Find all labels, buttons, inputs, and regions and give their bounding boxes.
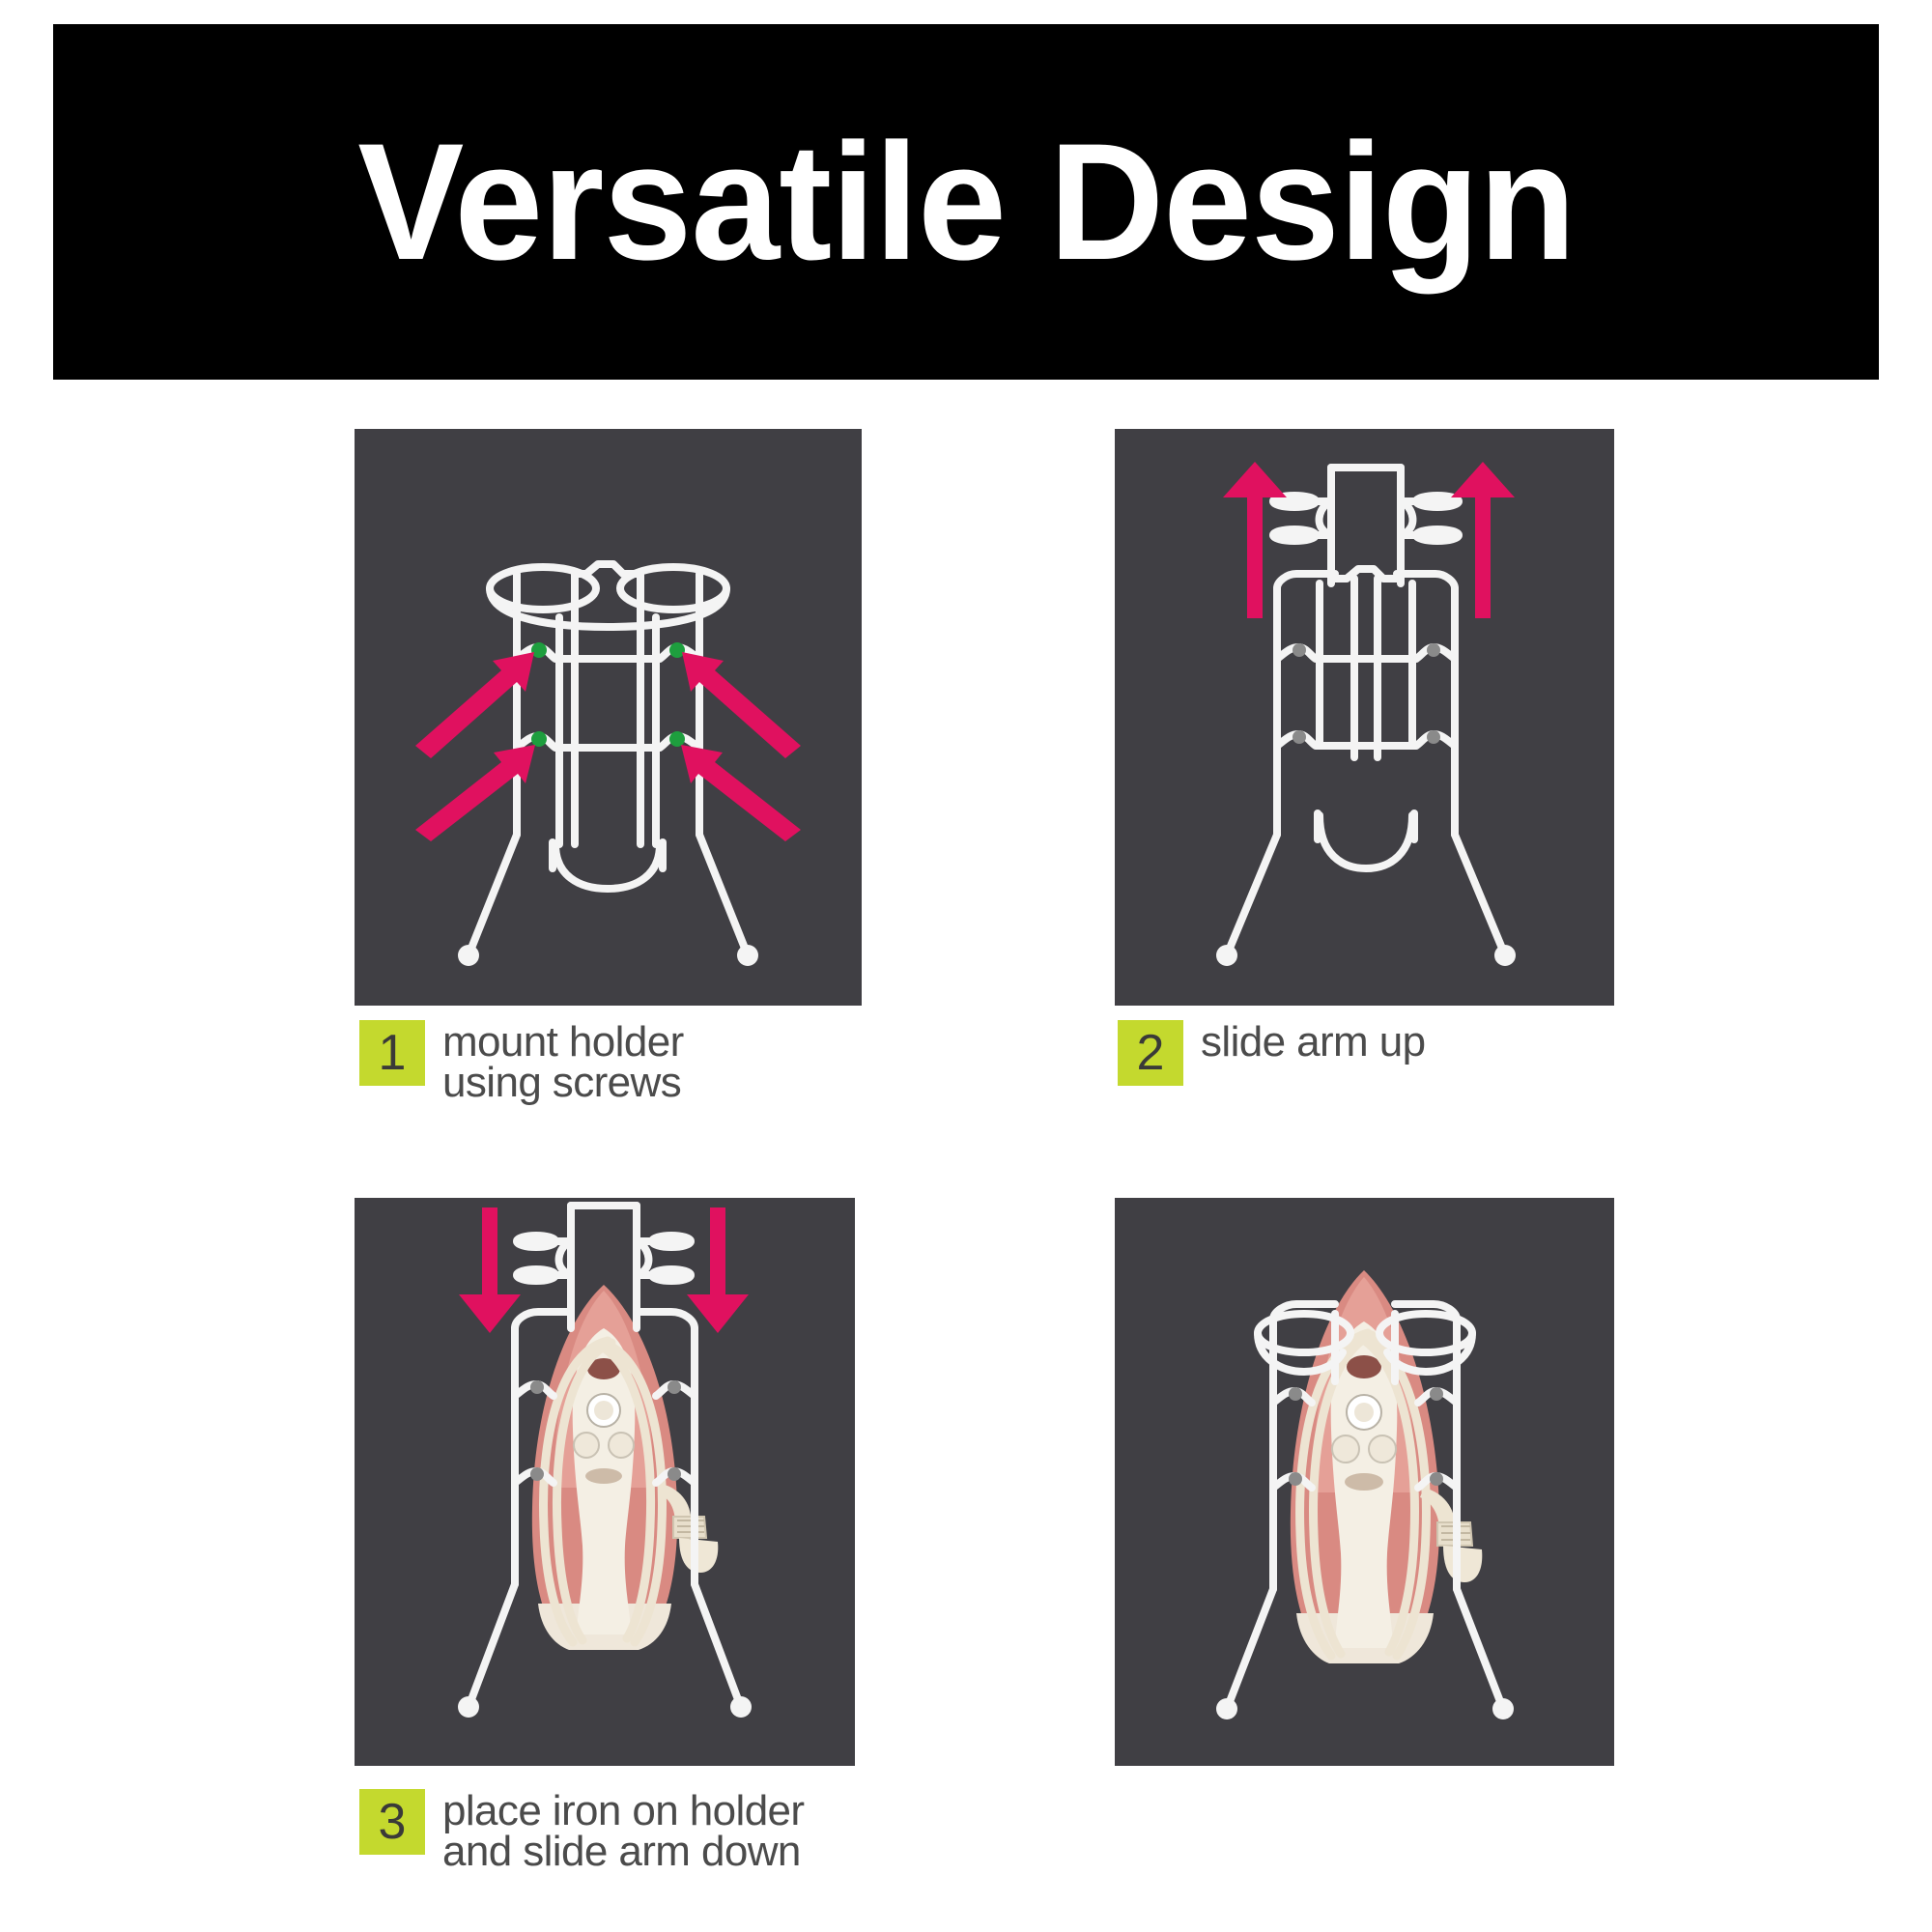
panel-place-iron	[355, 1198, 855, 1766]
leg-foot-left	[458, 1696, 479, 1718]
leg-foot-right	[730, 1696, 752, 1718]
leg-foot-right	[737, 945, 758, 966]
leg-foot-right	[1492, 1698, 1514, 1719]
step-number-badge-1: 1	[359, 1020, 425, 1086]
rack-illustration-step3	[355, 1198, 855, 1766]
rack-illustration-final	[1115, 1198, 1614, 1766]
rack-illustration-step2	[1115, 429, 1614, 1006]
step-label-2: slide arm up	[1201, 1020, 1425, 1063]
leg-foot-right	[1494, 945, 1516, 966]
step-caption-2: 2 slide arm up	[1118, 1020, 1425, 1086]
panel-final-result	[1115, 1198, 1614, 1766]
step-caption-3: 3 place iron on holder and slide arm dow…	[359, 1789, 804, 1872]
title-banner: Versatile Design	[53, 24, 1879, 380]
leg-foot-left	[1216, 1698, 1237, 1719]
rack-illustration-step1	[355, 429, 862, 1006]
panel-slide-arm-up	[1115, 429, 1614, 1006]
leg-foot-left	[1216, 945, 1237, 966]
iron-appliance	[532, 1285, 718, 1650]
page-title: Versatile Design	[357, 119, 1575, 285]
pink-arrows-step2	[1223, 462, 1515, 618]
step-label-3: place iron on holder and slide arm down	[442, 1789, 804, 1872]
step-label-1: mount holder using screws	[442, 1020, 684, 1103]
infographic-page: Versatile Design	[0, 0, 1932, 1932]
step-number-badge-2: 2	[1118, 1020, 1183, 1086]
panel-mount-holder	[355, 429, 862, 1006]
leg-foot-left	[458, 945, 479, 966]
step-caption-1: 1 mount holder using screws	[359, 1020, 684, 1103]
step-number-badge-3: 3	[359, 1789, 425, 1855]
